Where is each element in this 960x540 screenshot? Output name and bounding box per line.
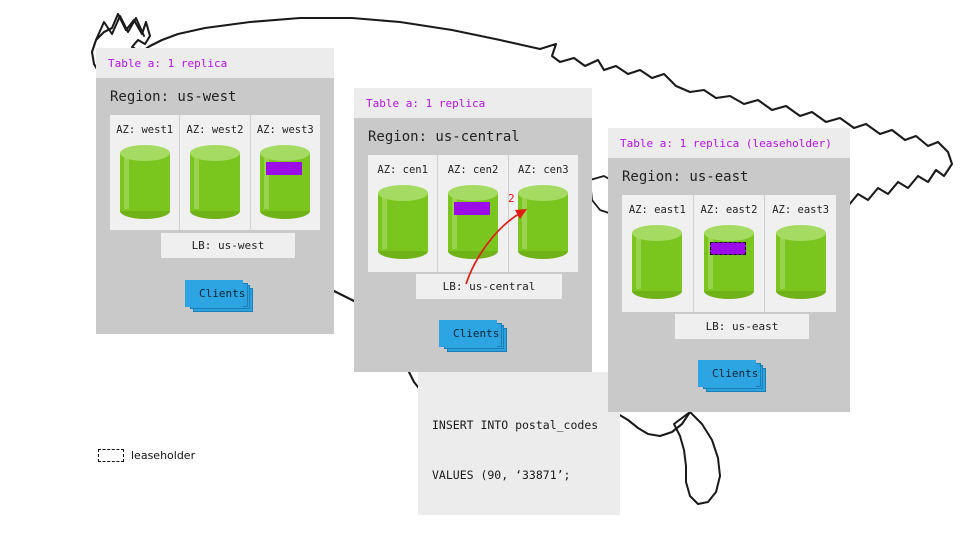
cylinder-highlight: [780, 235, 785, 289]
az-label: AZ: cen1: [368, 164, 437, 176]
node-cylinder-cen2[interactable]: [448, 185, 498, 259]
az-row: AZ: west1 AZ: west2 AZ: west3: [110, 115, 320, 230]
clients-stack-us-west[interactable]: Clients: [185, 280, 243, 307]
clients-button-label[interactable]: Clients: [185, 280, 243, 307]
load-balancer-us-central[interactable]: LB: us-central: [416, 274, 562, 299]
az-label: AZ: east2: [694, 204, 765, 216]
clients-button-label[interactable]: Clients: [439, 320, 497, 347]
az-label: AZ: west3: [251, 124, 320, 136]
cylinder-top: [518, 185, 568, 201]
az-cell-east1[interactable]: AZ: east1: [622, 195, 693, 312]
region-panel-us-east: Table a: 1 replica (leaseholder) Region:…: [608, 128, 850, 412]
dashed-rect-icon: [98, 449, 124, 462]
node-cylinder-east2[interactable]: [704, 225, 754, 299]
cylinder-top: [704, 225, 754, 241]
cylinder-highlight: [124, 155, 129, 209]
cylinder-highlight: [194, 155, 199, 209]
load-balancer-us-east[interactable]: LB: us-east: [675, 314, 809, 339]
node-cylinder-east1[interactable]: [632, 225, 682, 299]
sql-line-1: INSERT INTO postal_codes: [432, 417, 606, 434]
az-label: AZ: east3: [765, 204, 836, 216]
cylinder-highlight: [522, 195, 527, 249]
legend-label: leaseholder: [131, 449, 195, 462]
region-panel-us-central: Table a: 1 replica Region: us-central AZ…: [354, 88, 592, 372]
az-cell-east3[interactable]: AZ: east3: [764, 195, 836, 312]
clients-stack-us-east[interactable]: Clients: [698, 360, 756, 387]
region-panel-us-west: Table a: 1 replica Region: us-west AZ: w…: [96, 48, 334, 334]
az-cell-west2[interactable]: AZ: west2: [179, 115, 249, 230]
clients-button-label[interactable]: Clients: [698, 360, 756, 387]
node-cylinder-west1[interactable]: [120, 145, 170, 219]
replica-status-label: Table a: 1 replica: [108, 57, 322, 70]
node-cylinder-cen1[interactable]: [378, 185, 428, 259]
az-cell-cen2[interactable]: AZ: cen2: [437, 155, 507, 272]
sql-statement-box: INSERT INTO postal_codes VALUES (90, ‘33…: [418, 372, 620, 515]
az-label: AZ: west2: [180, 124, 249, 136]
az-label: AZ: east1: [622, 204, 693, 216]
cylinder-top: [120, 145, 170, 161]
az-label: AZ: cen2: [438, 164, 507, 176]
az-cell-west1[interactable]: AZ: west1: [110, 115, 179, 230]
cylinder-top: [632, 225, 682, 241]
panel-header-us-east: Table a: 1 replica (leaseholder): [608, 128, 850, 158]
cylinder-top: [378, 185, 428, 201]
sql-line-2: VALUES (90, ‘33871’;: [432, 467, 606, 484]
cylinder-top: [776, 225, 826, 241]
region-title: Region: us-east: [608, 158, 850, 195]
region-title: Region: us-west: [96, 78, 334, 115]
load-balancer-us-west[interactable]: LB: us-west: [161, 233, 295, 258]
cylinder-top: [448, 185, 498, 201]
replication-step-number: 2: [508, 192, 515, 205]
panel-header-us-central: Table a: 1 replica: [354, 88, 592, 118]
cylinder-highlight: [636, 235, 641, 289]
panel-header-us-west: Table a: 1 replica: [96, 48, 334, 78]
az-cell-cen1[interactable]: AZ: cen1: [368, 155, 437, 272]
az-label: AZ: cen3: [509, 164, 578, 176]
cylinder-top: [260, 145, 310, 161]
cylinder-top: [190, 145, 240, 161]
replica-block-east2-leaseholder[interactable]: [710, 242, 746, 255]
az-row: AZ: east1 AZ: east2 AZ: east3: [622, 195, 836, 312]
replica-block-cen2[interactable]: [454, 202, 490, 215]
replica-status-label: Table a: 1 replica: [366, 97, 580, 110]
az-cell-cen3[interactable]: AZ: cen3: [508, 155, 578, 272]
node-cylinder-cen3[interactable]: [518, 185, 568, 259]
az-label: AZ: west1: [110, 124, 179, 136]
node-cylinder-east3[interactable]: [776, 225, 826, 299]
az-cell-east2[interactable]: AZ: east2: [693, 195, 765, 312]
replica-status-label: Table a: 1 replica (leaseholder): [620, 137, 838, 150]
node-cylinder-west3[interactable]: [260, 145, 310, 219]
region-title: Region: us-central: [354, 118, 592, 155]
cylinder-highlight: [382, 195, 387, 249]
az-cell-west3[interactable]: AZ: west3: [250, 115, 320, 230]
az-row: AZ: cen1 AZ: cen2 AZ: cen3: [368, 155, 578, 272]
clients-stack-us-central[interactable]: Clients: [439, 320, 497, 347]
legend: leaseholder: [98, 449, 195, 462]
node-cylinder-west2[interactable]: [190, 145, 240, 219]
replica-block-west3[interactable]: [266, 162, 302, 175]
